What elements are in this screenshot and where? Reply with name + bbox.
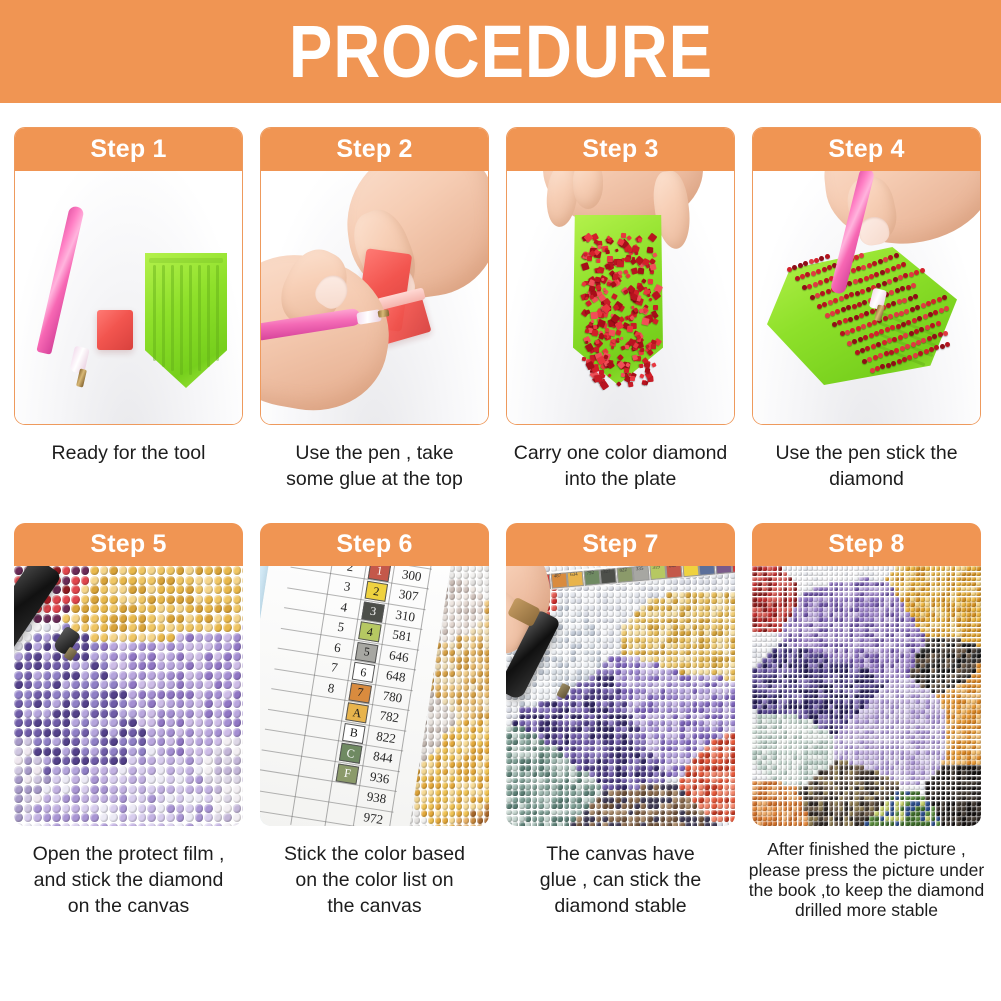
canvas-bead	[778, 592, 783, 597]
canvas-bead	[576, 771, 582, 777]
canvas-bead	[24, 718, 33, 727]
canvas-bead	[109, 623, 118, 632]
canvas-bead	[544, 810, 550, 816]
canvas-bead	[589, 682, 595, 688]
canvas-bead	[242, 747, 243, 756]
canvas-bead	[704, 605, 710, 611]
canvas-bead	[647, 598, 653, 604]
canvas-bead	[910, 582, 915, 587]
canvas-bead	[711, 694, 717, 700]
canvas-bead	[711, 701, 717, 707]
canvas-bead	[71, 785, 80, 794]
canvas-bead	[692, 778, 698, 784]
canvas-bead	[730, 746, 735, 752]
canvas-bead	[176, 671, 185, 680]
canvas-bead	[602, 720, 608, 726]
canvas-bead	[564, 707, 570, 713]
canvas-bead	[895, 612, 900, 617]
diamond-drill	[649, 298, 654, 303]
canvas-bead	[233, 652, 242, 661]
canvas-bead	[242, 737, 243, 746]
caption-line: Use the pen , take	[256, 441, 494, 467]
canvas-bead	[71, 671, 80, 680]
canvas-bead	[692, 586, 698, 592]
canvas-bead	[621, 752, 627, 758]
canvas-bead	[757, 587, 762, 592]
canvas-bead	[214, 737, 223, 746]
canvas-bead	[456, 768, 462, 774]
canvas-bead	[679, 656, 685, 662]
canvas-bead	[589, 707, 595, 713]
canvas-bead	[608, 739, 614, 745]
canvas-bead	[557, 701, 563, 707]
canvas-bead	[660, 694, 666, 700]
canvas-bead	[788, 597, 793, 602]
canvas-bead	[43, 756, 52, 765]
canvas-bead	[783, 607, 788, 612]
canvas-bead	[666, 643, 672, 649]
canvas-bead	[157, 718, 166, 727]
canvas-bead	[176, 699, 185, 708]
diamond-drill	[816, 269, 821, 274]
diamond-drill	[849, 292, 854, 297]
canvas-bead	[484, 635, 489, 641]
canvas-bead	[698, 675, 704, 681]
canvas-bead	[931, 572, 936, 577]
canvas-bead	[100, 823, 109, 827]
canvas-bead	[596, 758, 602, 764]
canvas-bead	[666, 598, 672, 604]
diamond-drill	[882, 281, 887, 286]
canvas-bead	[484, 579, 489, 585]
canvas-bead	[43, 785, 52, 794]
step-cell-6: SymbolSymbolDMC1213003230743310545816564…	[260, 523, 489, 920]
canvas-bead	[62, 756, 71, 765]
canvas-bead	[576, 790, 582, 796]
diamond-drill	[934, 345, 939, 350]
canvas-bead	[711, 669, 717, 675]
canvas-bead	[672, 752, 678, 758]
canvas-bead	[81, 728, 90, 737]
canvas-bead	[544, 771, 550, 777]
canvas-bead	[233, 756, 242, 765]
canvas-bead	[119, 766, 128, 775]
canvas-bead	[147, 661, 156, 670]
canvas-bead	[854, 572, 859, 577]
canvas-bead	[242, 604, 243, 613]
canvas-bead	[519, 810, 525, 816]
canvas-bead	[704, 758, 710, 764]
canvas-bead	[730, 618, 735, 624]
canvas-bead	[576, 822, 582, 826]
canvas-bead	[166, 585, 175, 594]
canvas-bead	[685, 714, 691, 720]
canvas-bead	[576, 739, 582, 745]
canvas-bead	[685, 592, 691, 598]
canvas-bead	[885, 577, 890, 582]
canvas-bead	[157, 813, 166, 822]
canvas-bead	[788, 592, 793, 597]
canvas-bead	[456, 635, 462, 641]
canvas-bead	[698, 720, 704, 726]
canvas-bead	[138, 690, 147, 699]
canvas-bead	[109, 785, 118, 794]
canvas-bead	[730, 701, 735, 707]
canvas-bead	[484, 593, 489, 599]
canvas-bead	[640, 688, 646, 694]
canvas-bead	[576, 675, 582, 681]
canvas-bead	[43, 823, 52, 827]
canvas-bead	[428, 761, 434, 767]
canvas-bead	[823, 597, 828, 602]
canvas-bead	[506, 810, 512, 816]
canvas-bead	[798, 582, 803, 587]
canvas-bead	[583, 790, 589, 796]
canvas-bead	[672, 669, 678, 675]
canvas-bead	[778, 577, 783, 582]
steps-row-1: Step 1	[0, 127, 1001, 492]
canvas-bead	[90, 737, 99, 746]
canvas-bead	[640, 701, 646, 707]
canvas-bead	[698, 810, 704, 816]
canvas-bead	[14, 813, 23, 822]
canvas-bead	[463, 782, 469, 788]
canvas-bead	[634, 784, 640, 790]
canvas-bead	[449, 740, 455, 746]
canvas-bead	[679, 637, 685, 643]
step-image-1	[15, 171, 242, 424]
canvas-bead	[704, 675, 710, 681]
canvas-bead	[966, 592, 971, 597]
chart-row-number: 5	[329, 618, 353, 637]
canvas-bead	[596, 816, 602, 822]
canvas-bead	[512, 701, 518, 707]
canvas-bead	[24, 766, 33, 775]
canvas-bead	[679, 714, 685, 720]
canvas-bead	[621, 797, 627, 803]
canvas-bead	[608, 688, 614, 694]
canvas-bead	[519, 707, 525, 713]
canvas-bead	[647, 816, 653, 822]
canvas-bead	[936, 577, 941, 582]
canvas-bead	[672, 733, 678, 739]
canvas-bead	[602, 733, 608, 739]
canvas-bead	[538, 701, 544, 707]
canvas-bead	[109, 775, 118, 784]
canvas-bead	[24, 671, 33, 680]
canvas-bead	[570, 682, 576, 688]
canvas-bead	[477, 621, 483, 627]
canvas-bead	[672, 701, 678, 707]
canvas-bead	[596, 803, 602, 809]
canvas-bead	[608, 714, 614, 720]
canvas-bead	[869, 582, 874, 587]
canvas-bead	[653, 803, 659, 809]
canvas-bead	[470, 635, 476, 641]
canvas-bead	[869, 572, 874, 577]
diamond-drill	[651, 362, 656, 367]
canvas-bead	[449, 635, 455, 641]
canvas-bead	[43, 813, 52, 822]
canvas-bead	[608, 662, 614, 668]
canvas-bead	[242, 699, 243, 708]
canvas-bead	[128, 785, 137, 794]
canvas-bead	[90, 614, 99, 623]
canvas-bead	[951, 577, 956, 582]
canvas-bead	[166, 661, 175, 670]
canvas-bead	[628, 739, 634, 745]
canvas-bead	[869, 592, 874, 597]
canvas-bead	[564, 669, 570, 675]
canvas-bead	[24, 737, 33, 746]
canvas-bead	[147, 709, 156, 718]
canvas-bead	[570, 611, 576, 617]
canvas-bead	[442, 796, 448, 802]
canvas-bead	[692, 771, 698, 777]
canvas-bead	[666, 675, 672, 681]
diamond-drill	[651, 344, 656, 349]
canvas-bead	[685, 822, 691, 826]
canvas-bead	[660, 803, 666, 809]
canvas-bead	[33, 633, 42, 642]
canvas-bead	[532, 726, 538, 732]
diamond-drill	[851, 268, 856, 273]
canvas-bead	[834, 612, 839, 617]
canvas-bead	[698, 650, 704, 656]
canvas-bead	[62, 585, 71, 594]
canvas-bead	[242, 804, 243, 813]
canvas-bead	[640, 714, 646, 720]
canvas-bead	[435, 747, 441, 753]
canvas-bead	[223, 690, 232, 699]
canvas-bead	[214, 585, 223, 594]
canvas-bead	[813, 587, 818, 592]
canvas-bead	[849, 592, 854, 597]
canvas-bead	[544, 662, 550, 668]
canvas-bead	[724, 637, 730, 643]
canvas-bead	[128, 680, 137, 689]
canvas-bead	[109, 614, 118, 623]
canvas-bead	[62, 747, 71, 756]
canvas-bead	[602, 746, 608, 752]
canvas-bead	[551, 598, 557, 604]
canvas-bead	[456, 726, 462, 732]
canvas-bead	[685, 752, 691, 758]
canvas-bead	[470, 824, 476, 826]
canvas-bead	[704, 752, 710, 758]
canvas-bead	[910, 592, 915, 597]
diamond-drill	[878, 353, 883, 358]
canvas-bead	[449, 656, 455, 662]
canvas-bead	[634, 752, 640, 758]
canvas-bead	[730, 694, 735, 700]
canvas-bead	[138, 813, 147, 822]
canvas-bead	[71, 823, 80, 827]
canvas-bead	[43, 766, 52, 775]
canvas-bead	[602, 688, 608, 694]
canvas-bead	[704, 778, 710, 784]
canvas-bead	[915, 597, 920, 602]
canvas-bead	[803, 566, 808, 571]
canvas-bead	[147, 652, 156, 661]
canvas-bead	[634, 586, 640, 592]
canvas-bead	[33, 680, 42, 689]
canvas-bead	[829, 587, 834, 592]
canvas-bead	[854, 592, 859, 597]
canvas-bead	[698, 662, 704, 668]
canvas-bead	[793, 597, 798, 602]
canvas-bead	[442, 824, 448, 826]
canvas-bead	[615, 694, 621, 700]
canvas-bead	[640, 694, 646, 700]
canvas-bead	[52, 747, 61, 756]
diamond-drill	[595, 284, 602, 291]
canvas-bead	[477, 691, 483, 697]
canvas-bead	[711, 746, 717, 752]
canvas-bead	[602, 797, 608, 803]
diamond-drill	[807, 284, 812, 289]
canvas-bead	[724, 675, 730, 681]
canvas-bead	[223, 756, 232, 765]
canvas-bead	[666, 778, 672, 784]
canvas-bead	[666, 624, 672, 630]
canvas-bead	[463, 761, 469, 767]
canvas-bead	[653, 637, 659, 643]
diamond-drill	[920, 268, 925, 273]
canvas-bead	[931, 566, 936, 571]
canvas-bead	[890, 577, 895, 582]
canvas-bead	[900, 602, 905, 607]
canvas-bead	[849, 612, 854, 617]
canvas-bead	[449, 768, 455, 774]
canvas-bead	[808, 602, 813, 607]
canvas-bead	[640, 803, 646, 809]
canvas-bead	[692, 784, 698, 790]
canvas-bead	[685, 726, 691, 732]
canvas-bead	[615, 656, 621, 662]
canvas-bead	[33, 775, 42, 784]
canvas-bead	[621, 746, 627, 752]
canvas-bead	[589, 701, 595, 707]
canvas-bead	[544, 758, 550, 764]
canvas-bead	[757, 602, 762, 607]
diamond-drill	[817, 304, 822, 309]
canvas-bead	[583, 810, 589, 816]
canvas-bead	[698, 758, 704, 764]
canvas-bead	[711, 650, 717, 656]
canvas-bead	[90, 680, 99, 689]
canvas-bead	[628, 624, 634, 630]
canvas-bead	[711, 656, 717, 662]
canvas-bead	[672, 611, 678, 617]
diamond-drill	[863, 335, 868, 340]
diamond-drill	[945, 342, 950, 347]
canvas-bead	[214, 794, 223, 803]
canvas-bead	[176, 680, 185, 689]
canvas-bead	[157, 690, 166, 699]
canvas-bead	[679, 822, 685, 826]
canvas-bead	[435, 768, 441, 774]
canvas-bead	[679, 784, 685, 790]
canvas-bead	[456, 600, 462, 606]
canvas-bead	[449, 810, 455, 816]
canvas-bead	[762, 592, 767, 597]
canvas-bead	[119, 652, 128, 661]
canvas-bead	[470, 775, 476, 781]
canvas-bead	[724, 618, 730, 624]
diamond-drill	[855, 291, 860, 296]
diamond-drill	[841, 307, 846, 312]
canvas-bead	[81, 756, 90, 765]
canvas-bead	[602, 675, 608, 681]
canvas-bead	[685, 656, 691, 662]
diamond-drill	[885, 268, 890, 273]
canvas-bead	[839, 592, 844, 597]
canvas-bead	[951, 597, 956, 602]
canvas-bead	[81, 709, 90, 718]
canvas-bead	[717, 746, 723, 752]
canvas-bead	[698, 605, 704, 611]
canvas-bead	[583, 816, 589, 822]
canvas-bead	[685, 733, 691, 739]
canvas-bead	[185, 690, 194, 699]
canvas-bead	[647, 707, 653, 713]
canvas-bead	[470, 705, 476, 711]
canvas-bead	[138, 785, 147, 794]
canvas-bead	[679, 598, 685, 604]
diamond-drill	[855, 350, 860, 355]
canvas-bead	[166, 623, 175, 632]
canvas-bead	[551, 694, 557, 700]
canvas-bead	[470, 621, 476, 627]
canvas-bead	[628, 688, 634, 694]
canvas-bead	[52, 690, 61, 699]
canvas-bead	[666, 752, 672, 758]
canvas-bead	[672, 758, 678, 764]
canvas-bead	[602, 643, 608, 649]
canvas-bead	[223, 813, 232, 822]
canvas-bead	[628, 682, 634, 688]
canvas-bead	[138, 804, 147, 813]
step-cell-5: Step 5 Open the protect film , and stic	[14, 523, 243, 920]
canvas-bead	[589, 714, 595, 720]
canvas-bead	[823, 566, 828, 571]
canvas-bead	[778, 602, 783, 607]
canvas-bead	[895, 566, 900, 571]
canvas-bead	[449, 733, 455, 739]
canvas-bead	[660, 592, 666, 598]
canvas-bead	[880, 566, 885, 571]
canvas-bead	[81, 642, 90, 651]
canvas-bead	[185, 585, 194, 594]
canvas-bead	[442, 656, 448, 662]
canvas-bead	[100, 604, 109, 613]
canvas-bead	[551, 771, 557, 777]
canvas-bead	[672, 765, 678, 771]
canvas-bead	[570, 778, 576, 784]
canvas-bead	[564, 778, 570, 784]
canvas-bead	[602, 669, 608, 675]
canvas-bead	[512, 778, 518, 784]
canvas-bead	[640, 726, 646, 732]
canvas-bead	[941, 577, 946, 582]
diamond-drill	[852, 304, 857, 309]
canvas-bead	[880, 572, 885, 577]
diamond-drill	[822, 302, 827, 307]
canvas-bead	[551, 701, 557, 707]
canvas-bead	[176, 566, 185, 575]
canvas-bead	[634, 598, 640, 604]
